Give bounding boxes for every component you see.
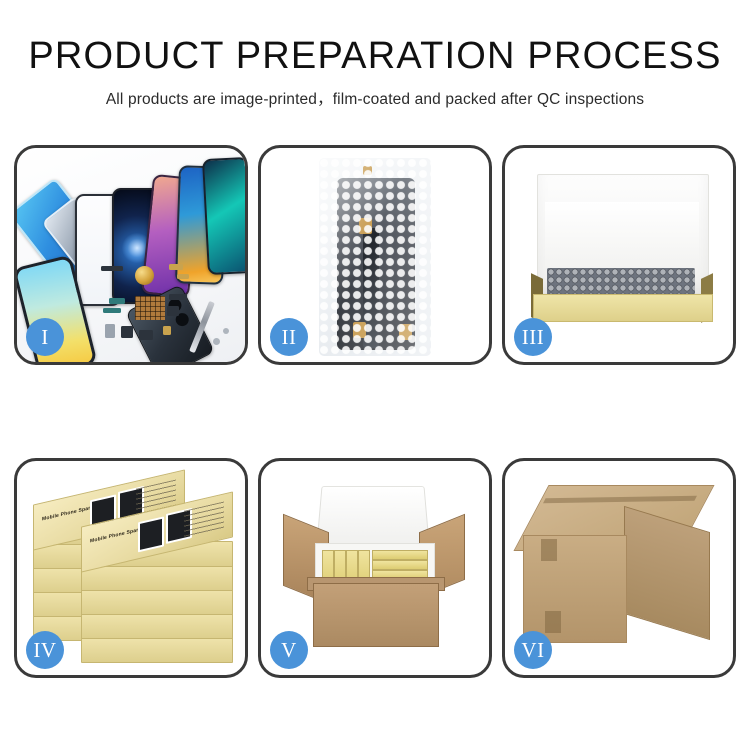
process-step-5: V — [258, 458, 492, 678]
page-title: PRODUCT PREPARATION PROCESS — [0, 36, 750, 78]
tape-strip — [541, 539, 557, 561]
tape-strip — [545, 611, 561, 633]
yellow-box — [372, 560, 428, 570]
stacked-box — [81, 613, 233, 639]
page-header: PRODUCT PREPARATION PROCESS All products… — [0, 0, 750, 109]
process-step-4: Mobile Phone Spare Parts Mobile Phone Sp… — [14, 458, 248, 678]
stacked-box — [81, 637, 233, 663]
yellow-box — [372, 550, 428, 560]
box-stack: Mobile Phone Spare Parts Mobile Phone Sp… — [31, 485, 237, 661]
box-spec-lines — [184, 502, 224, 539]
screw-part — [223, 328, 229, 334]
process-step-grid: I II III — [14, 145, 736, 678]
kraft-box-front — [533, 294, 713, 322]
small-part — [169, 264, 183, 270]
foam-sheet — [545, 202, 699, 268]
process-step-6: VI — [502, 458, 736, 678]
step-badge-1: I — [26, 318, 64, 356]
small-part — [109, 298, 125, 304]
small-part — [101, 266, 123, 271]
step-badge-3: III — [514, 318, 552, 356]
step-badge-4: IV — [26, 631, 64, 669]
step-badge-6: VI — [514, 631, 552, 669]
carton-side-face — [624, 506, 710, 640]
process-step-3: III — [502, 145, 736, 365]
small-part — [169, 294, 187, 300]
stacked-box — [81, 589, 233, 615]
small-part — [139, 330, 153, 340]
logic-board-part — [135, 296, 165, 320]
carton-front-face — [523, 535, 627, 643]
small-part — [105, 324, 115, 338]
box-window-image — [138, 516, 164, 552]
small-part — [167, 306, 179, 316]
phone-teal-gradient — [202, 157, 245, 275]
stacked-box — [81, 565, 233, 591]
page-subtitle: All products are image-printed，film-coat… — [0, 87, 750, 109]
screw-part — [213, 338, 220, 345]
foam-lid — [316, 486, 430, 547]
small-part — [177, 274, 189, 279]
process-step-1: I — [14, 145, 248, 365]
process-step-2: II — [258, 145, 492, 365]
plastic-sheen — [319, 158, 431, 356]
small-part — [163, 326, 171, 335]
speaker-coil-part — [135, 266, 154, 285]
step-badge-5: V — [270, 631, 308, 669]
small-part — [121, 326, 133, 338]
step-badge-2: II — [270, 318, 308, 356]
carton-front-face — [313, 583, 439, 647]
bubble-wrap-pouch — [319, 158, 431, 356]
small-part — [103, 308, 121, 313]
